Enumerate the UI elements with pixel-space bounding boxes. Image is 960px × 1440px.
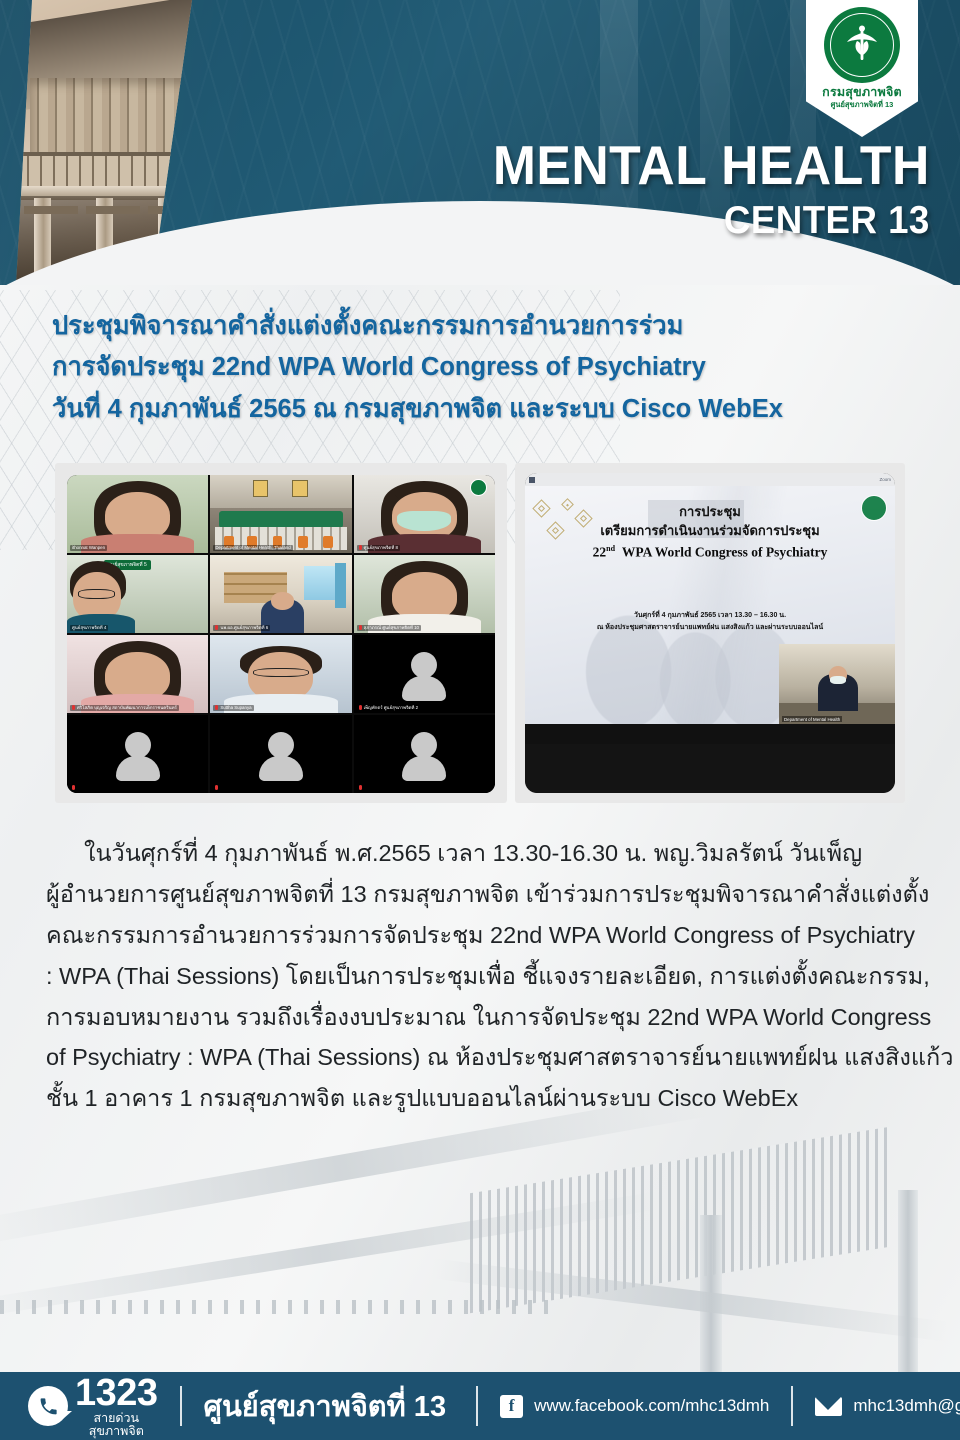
participant-name: Department of Mental Health, Thailand <box>213 545 292 552</box>
body-line-6: of Psychiatry : WPA (Thai Sessions) ณ ห้… <box>46 1037 926 1078</box>
body-line-4: : WPA (Thai Sessions) โดยเป็นการประชุมเพ… <box>46 956 926 997</box>
envelope-icon <box>815 1397 842 1416</box>
slide-title-group: การประชุม เตรียมการดำเนินงานร่วมจัดการปร… <box>525 503 895 560</box>
window-icon <box>529 477 535 483</box>
slide-canvas: การประชุม เตรียมการดำเนินงานร่วมจัดการปร… <box>525 486 895 724</box>
video-tile: Suttha Supanya <box>210 635 351 713</box>
video-tile: นพ.ผอ.ศูนย์สุขภาพจิตที่ 6 <box>210 555 351 633</box>
body-line-1: ในวันศุกร์ที่ 4 กุมภาพันธ์ พ.ศ.2565 เวลา… <box>46 833 926 874</box>
footer-center-name: ศูนย์สุขภาพจิตที่ 13 <box>204 1383 447 1429</box>
participant-name: ศริโสภิต บุญเจริญ สถาบันพัฒนาการเด็กราชน… <box>70 705 179 712</box>
poster-header: กรมสุขภาพจิต ศูนย์สุขภาพจิตที่ 13 MENTAL… <box>0 0 960 285</box>
avatar-placeholder-icon <box>354 635 495 713</box>
footer-divider <box>476 1386 478 1426</box>
hotline-number: 1323 <box>75 1375 158 1411</box>
presenter-video-thumbnail: + Department of Mental Health <box>779 644 895 724</box>
facebook-contact[interactable]: f www.facebook.com/mhc13dmh <box>500 1395 769 1418</box>
body-paragraph: ในวันศุกร์ที่ 4 กุมภาพันธ์ พ.ศ.2565 เวลา… <box>46 833 926 1119</box>
avatar-placeholder-icon <box>354 715 495 793</box>
email-contact[interactable]: mhc13dmh@gmail.com <box>815 1396 960 1416</box>
body-line-3: คณะกรรมการอำนวยการร่วมการจัดประชุม 22nd … <box>46 915 926 956</box>
avatar-placeholder-icon <box>67 715 208 793</box>
poster-root: กรมสุขภาพจิต ศูนย์สุขภาพจิตที่ 13 MENTAL… <box>0 0 960 1440</box>
media-row: ithonnat Wanpen Dep <box>55 463 905 803</box>
video-tile: เพ็ญพักตร์ ศูนย์สุขภาพจิตที่ 2 <box>354 635 495 713</box>
video-tile: สุภาภรณ์ ศูนย์สุขภาพจิตที่ 10 <box>354 555 495 633</box>
video-tile <box>67 715 208 793</box>
body-line-7: ชั้น 1 อาคาร 1 กรมสุขภาพจิต และรูปแบบออน… <box>46 1078 926 1119</box>
slide-title-line-1: การประชุม <box>525 503 895 522</box>
mph-logo-icon <box>470 479 487 496</box>
participant-name: สุภาภรณ์ ศูนย์สุขภาพจิตที่ 10 <box>357 625 421 632</box>
slide-subtitle-group: วันศุกร์ที่ 4 กุมภาพันธ์ 2565 เวลา 13.30… <box>525 610 895 634</box>
phone-icon <box>28 1386 68 1426</box>
poster-footer: 1323 สายด่วนสุขภาพจิต ศูนย์สุขภาพจิตที่ … <box>0 1372 960 1440</box>
video-conference-screenshot: ithonnat Wanpen Dep <box>55 463 507 803</box>
video-tile: ศริโสภิต บุญเจริญ สถาบันพัฒนาการเด็กราชน… <box>67 635 208 713</box>
participant-name: ithonnat Wanpen <box>70 545 107 552</box>
facebook-url[interactable]: www.facebook.com/mhc13dmh <box>534 1396 769 1416</box>
brand-title: MENTAL HEALTH CENTER 13 <box>465 138 930 240</box>
brand-line-primary: MENTAL HEALTH <box>493 138 930 193</box>
footer-divider <box>791 1386 793 1426</box>
topbar-label: Zoom <box>879 477 891 482</box>
slide-title-line-2: เตรียมการดำเนินงานร่วมจัดการประชุม <box>525 522 895 541</box>
presenter-label: Department of Mental Health <box>782 716 842 722</box>
participant-name: เพ็ญพักตร์ ศูนย์สุขภาพจิตที่ 2 <box>357 705 420 712</box>
video-tile: ithonnat Wanpen <box>67 475 208 553</box>
slide-letterbox <box>525 744 895 793</box>
brand-line-secondary: CENTER 13 <box>493 201 930 240</box>
caduceus-icon <box>824 7 900 83</box>
avatar-placeholder-icon <box>210 715 351 793</box>
emblem-center-label: ศูนย์สุขภาพจิตที่ 13 <box>831 101 894 109</box>
hotline-block[interactable]: 1323 สายด่วนสุขภาพจิต <box>0 1375 158 1437</box>
video-tile <box>210 715 351 793</box>
title-line-1: ประชุมพิจารณาคำสั่งแต่งตั้งคณะกรรมการอำน… <box>52 306 932 347</box>
participant-name: นพ.ผอ.ศูนย์สุขภาพจิตที่ 6 <box>213 625 270 632</box>
participant-name: ศูนย์สุขภาพจิตที่ 4 <box>70 625 108 632</box>
footer-divider <box>180 1386 182 1426</box>
video-tile: ศูนย์สุขภาพจิตที่ 5 ศูนย์สุขภาพจิตที่ 4 <box>67 555 208 633</box>
title-line-2: การจัดประชุม 22nd WPA World Congress of … <box>52 347 932 388</box>
participant-name <box>357 785 366 792</box>
video-tile <box>354 715 495 793</box>
video-tile: ศูนย์สุขภาพจิตที่ 8 <box>354 475 495 553</box>
facebook-icon: f <box>500 1395 523 1418</box>
participant-name: ศูนย์สุขภาพจิตที่ 8 <box>357 545 400 552</box>
participant-name <box>70 785 79 792</box>
participant-name: Suttha Supanya <box>213 705 253 712</box>
title-line-3: วันที่ 4 กุมภาพันธ์ 2565 ณ กรมสุขภาพจิต … <box>52 389 932 430</box>
video-grid: ithonnat Wanpen Dep <box>67 475 495 793</box>
participant-name <box>213 785 222 792</box>
slide-shell: Zoom การประชุม เตรียมการดำเนินงา <box>525 473 895 793</box>
slide-window-topbar: Zoom <box>525 473 895 486</box>
body-line-2: ผู้อำนวยการศูนย์สุขภาพจิตที่ 13 กรมสุขภา… <box>46 874 926 915</box>
video-tile: Department of Mental Health, Thailand <box>210 475 351 553</box>
email-address[interactable]: mhc13dmh@gmail.com <box>853 1396 960 1416</box>
hotline-subtitle: สายด่วนสุขภาพจิต <box>75 1412 158 1437</box>
poster-title-block: ประชุมพิจารณาคำสั่งแต่งตั้งคณะกรรมการอำน… <box>52 306 932 430</box>
slide-subtitle-line-1: วันศุกร์ที่ 4 กุมภาพันธ์ 2565 เวลา 13.30… <box>525 610 895 622</box>
slide-title-line-3: 22nd WPA World Congress of Psychiatry <box>525 544 895 561</box>
body-line-5: การมอบหมายงาน รวมถึงเรื่องงบประมาณ ในการ… <box>46 997 926 1038</box>
presentation-slide-screenshot: Zoom การประชุม เตรียมการดำเนินงา <box>515 463 905 803</box>
emblem-org-label: กรมสุขภาพจิต <box>822 86 902 99</box>
slide-subtitle-line-2: ณ ห้องประชุมศาสตราจารย์นายแพทย์ฝน แสงสิง… <box>525 622 895 634</box>
